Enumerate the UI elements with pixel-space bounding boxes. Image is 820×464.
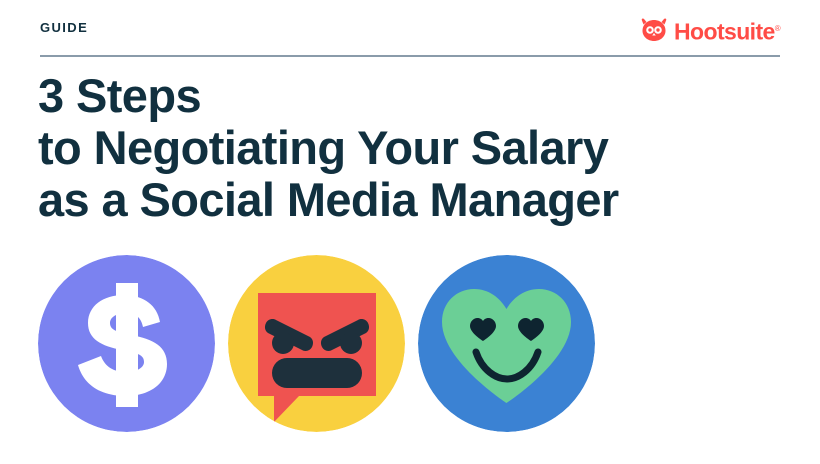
illustration-icon-row	[38, 255, 788, 435]
angry-speech-bubble-badge	[228, 255, 405, 432]
title-line-2: to Negotiating Your Salary	[38, 122, 788, 174]
dollar-sign-badge	[38, 255, 215, 432]
hootsuite-owl-icon	[641, 18, 667, 42]
heart-eyes-heart-badge	[418, 255, 595, 432]
registered-trademark-mark: ®	[775, 24, 780, 33]
hootsuite-wordmark: Hootsuite®	[674, 17, 780, 44]
title-line-3: as a Social Media Manager	[38, 174, 788, 226]
hootsuite-wordmark-text: Hootsuite	[674, 19, 775, 45]
page-header: GUIDE Hootsuite®	[40, 20, 780, 58]
page-title: 3 Steps to Negotiating Your Salary as a …	[38, 70, 788, 226]
header-divider	[40, 55, 780, 57]
eyebrow-label: GUIDE	[40, 20, 88, 36]
hootsuite-logo: Hootsuite®	[641, 17, 780, 44]
title-line-1: 3 Steps	[38, 70, 788, 122]
